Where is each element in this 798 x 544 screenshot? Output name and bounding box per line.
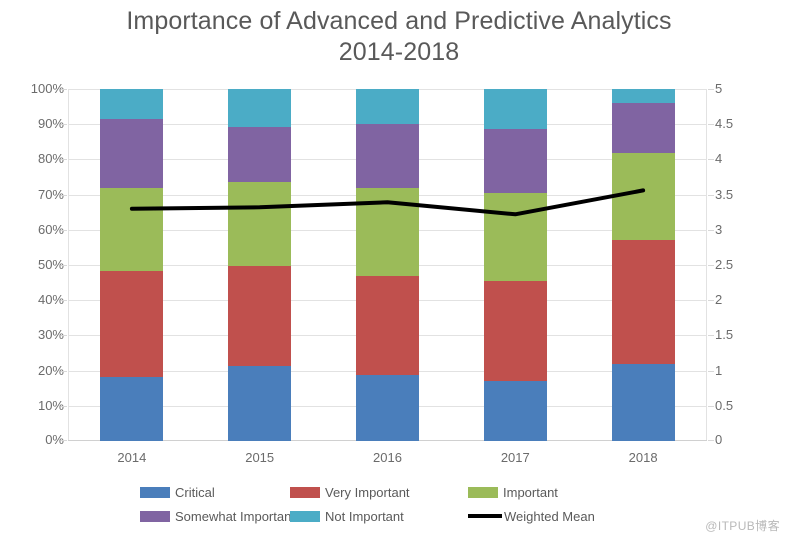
y-tick-mark-left: [61, 371, 67, 372]
y-tick-left: 90%: [4, 116, 64, 131]
legend-swatch-icon: [290, 487, 320, 498]
bar-segment[interactable]: [356, 124, 419, 188]
legend-label: Not Important: [325, 509, 404, 524]
legend-label: Weighted Mean: [504, 509, 595, 524]
y-tick-mark-left: [61, 195, 67, 196]
y-tick-right: 3.5: [715, 187, 775, 202]
bar-segment[interactable]: [612, 364, 675, 441]
bar-2015[interactable]: [228, 89, 291, 441]
y-tick-right: 1: [715, 363, 775, 378]
bar-segment[interactable]: [356, 188, 419, 276]
y-tick-mark-left: [61, 265, 67, 266]
bar-segment[interactable]: [228, 266, 291, 366]
x-tick-label: 2015: [215, 450, 305, 465]
legend-swatch-icon: [140, 511, 170, 522]
y-tick-left: 70%: [4, 187, 64, 202]
x-tick-label: 2014: [87, 450, 177, 465]
legend-row-1: Critical Very Important Important: [140, 481, 640, 503]
y-tick-left: 80%: [4, 151, 64, 166]
bar-segment[interactable]: [612, 153, 675, 239]
bar-2018[interactable]: [612, 89, 675, 441]
y-tick-left: 20%: [4, 363, 64, 378]
y-tick-mark-left: [61, 230, 67, 231]
y-tick-mark-right: [708, 124, 714, 125]
y-tick-right: 0: [715, 432, 775, 447]
bar-segment[interactable]: [484, 89, 547, 129]
y-tick-mark-right: [708, 89, 714, 90]
legend-item-critical[interactable]: Critical: [140, 485, 290, 500]
bar-segment[interactable]: [484, 129, 547, 192]
bar-segment[interactable]: [356, 89, 419, 123]
bar-segment[interactable]: [612, 240, 675, 364]
bar-segment[interactable]: [484, 193, 547, 281]
legend-label: Somewhat Important: [175, 509, 295, 524]
bar-segment[interactable]: [228, 366, 291, 441]
bar-segment[interactable]: [100, 188, 163, 271]
y-tick-mark-left: [61, 440, 67, 441]
bar-segment[interactable]: [484, 381, 547, 441]
y-tick-left: 10%: [4, 398, 64, 413]
bar-2014[interactable]: [100, 89, 163, 441]
y-tick-mark-left: [61, 300, 67, 301]
bar-segment[interactable]: [228, 182, 291, 265]
y-tick-mark-right: [708, 195, 714, 196]
y-tick-mark-right: [708, 335, 714, 336]
y-tick-left: 0%: [4, 432, 64, 447]
chart-legend: Critical Very Important Important Somewh…: [140, 481, 640, 529]
x-tick-label: 2018: [598, 450, 688, 465]
y-tick-mark-right: [708, 159, 714, 160]
bar-segment[interactable]: [484, 281, 547, 382]
y-tick-right: 2.5: [715, 257, 775, 272]
y-tick-right: 2: [715, 292, 775, 307]
legend-swatch-icon: [140, 487, 170, 498]
y-tick-left: 50%: [4, 257, 64, 272]
chart-page: Importance of Advanced and Predictive An…: [0, 0, 798, 544]
watermark: @ITPUB博客: [705, 517, 780, 534]
y-tick-mark-left: [61, 335, 67, 336]
bar-segment[interactable]: [100, 119, 163, 188]
y-tick-right: 4: [715, 151, 775, 166]
legend-label: Critical: [175, 485, 215, 500]
axis-line-left: [68, 89, 69, 441]
bar-segment[interactable]: [356, 276, 419, 375]
y-tick-mark-left: [61, 124, 67, 125]
y-tick-right: 4.5: [715, 116, 775, 131]
y-tick-left: 100%: [4, 81, 64, 96]
bar-segment[interactable]: [612, 103, 675, 153]
legend-line-icon: [468, 514, 502, 518]
legend-label: Very Important: [325, 485, 410, 500]
y-tick-left: 30%: [4, 327, 64, 342]
y-tick-right: 5: [715, 81, 775, 96]
bar-segment[interactable]: [228, 127, 291, 182]
legend-label: Important: [503, 485, 558, 500]
legend-item-somewhat-important[interactable]: Somewhat Important: [140, 509, 290, 524]
bar-segment[interactable]: [228, 89, 291, 127]
y-tick-mark-right: [708, 265, 714, 266]
y-tick-mark-right: [708, 230, 714, 231]
y-tick-mark-right: [708, 406, 714, 407]
y-tick-mark-right: [708, 440, 714, 441]
bar-segment[interactable]: [612, 89, 675, 103]
bar-2017[interactable]: [484, 89, 547, 441]
y-tick-right: 1.5: [715, 327, 775, 342]
y-tick-mark-left: [61, 159, 67, 160]
legend-row-2: Somewhat Important Not Important Weighte…: [140, 505, 640, 527]
bar-segment[interactable]: [356, 375, 419, 441]
bar-segment[interactable]: [100, 89, 163, 119]
y-tick-mark-left: [61, 406, 67, 407]
legend-swatch-icon: [290, 511, 320, 522]
legend-item-important[interactable]: Important: [468, 485, 628, 500]
y-tick-right: 3: [715, 222, 775, 237]
x-tick-label: 2017: [470, 450, 560, 465]
legend-item-not-important[interactable]: Not Important: [290, 509, 468, 524]
page-title: Importance of Advanced and Predictive An…: [0, 6, 798, 68]
bar-segment[interactable]: [100, 377, 163, 441]
chart-subtitle: 2014-2018: [0, 37, 798, 68]
y-tick-mark-right: [708, 371, 714, 372]
y-tick-mark-right: [708, 300, 714, 301]
y-tick-right: 0.5: [715, 398, 775, 413]
bar-2016[interactable]: [356, 89, 419, 441]
legend-item-weighted-mean[interactable]: Weighted Mean: [468, 509, 628, 524]
bar-segment[interactable]: [100, 271, 163, 377]
legend-swatch-icon: [468, 487, 498, 498]
x-tick-label: 2016: [343, 450, 433, 465]
chart-title: Importance of Advanced and Predictive An…: [0, 6, 798, 37]
plot-area: [68, 89, 707, 441]
axis-line-right: [706, 89, 707, 441]
y-tick-left: 60%: [4, 222, 64, 237]
y-tick-left: 40%: [4, 292, 64, 307]
legend-item-very-important[interactable]: Very Important: [290, 485, 468, 500]
y-tick-mark-left: [61, 89, 67, 90]
